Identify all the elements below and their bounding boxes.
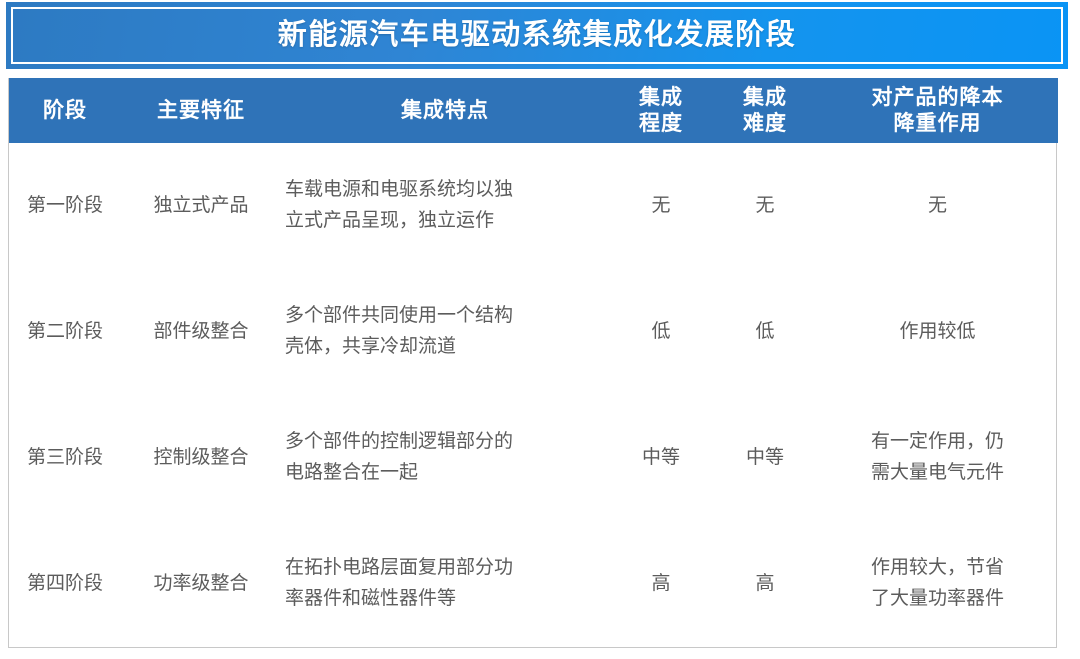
cell-difficulty: 无	[713, 143, 817, 269]
column-header-difficulty-line-1: 集成	[713, 85, 817, 110]
cell-integration: 多个部件的控制逻辑部分的 电路整合在一起	[281, 395, 609, 521]
cell-integration: 车载电源和电驱系统均以独 立式产品呈现，独立运作	[281, 143, 609, 269]
column-header-feature: 主要特征	[121, 78, 281, 143]
cell-effect-line-2: 需大量电气元件	[829, 458, 1046, 489]
slide-page: 新能源汽车电驱动系统集成化发展阶段 阶段 主要特征	[0, 0, 1080, 659]
cell-stage: 第三阶段	[9, 395, 121, 521]
cell-effect-line-1: 无	[829, 191, 1046, 222]
cell-integration-line-2: 电路整合在一起	[285, 458, 591, 489]
cell-stage: 第四阶段	[9, 521, 121, 647]
column-header-difficulty: 集成 难度	[713, 78, 817, 143]
cell-effect-line-1: 作用较大，节省	[829, 553, 1046, 584]
cell-feature: 独立式产品	[121, 143, 281, 269]
cell-difficulty: 中等	[713, 395, 817, 521]
cell-effect: 作用较大，节省 了大量功率器件	[817, 521, 1058, 647]
cell-effect: 有一定作用，仍 需大量电气元件	[817, 395, 1058, 521]
column-header-integration-line-1: 集成特点	[281, 98, 609, 123]
cell-level: 高	[609, 521, 713, 647]
cell-integration-line-2: 壳体，共享冷却流道	[285, 332, 591, 363]
column-header-level: 集成 程度	[609, 78, 713, 143]
cell-effect-line-1: 有一定作用，仍	[829, 427, 1046, 458]
column-header-effect-line-2: 降重作用	[817, 111, 1058, 136]
column-header-difficulty-line-2: 难度	[713, 111, 817, 136]
title-banner-inner-frame: 新能源汽车电驱动系统集成化发展阶段	[11, 7, 1063, 64]
page-title: 新能源汽车电驱动系统集成化发展阶段	[278, 21, 797, 50]
column-header-level-line-1: 集成	[609, 85, 713, 110]
column-header-integration: 集成特点	[281, 78, 609, 143]
column-header-level-line-2: 程度	[609, 111, 713, 136]
table-row: 第二阶段 部件级整合 多个部件共同使用一个结构 壳体，共享冷却流道 低 低 作用…	[9, 269, 1058, 395]
cell-feature: 控制级整合	[121, 395, 281, 521]
cell-level: 中等	[609, 395, 713, 521]
cell-integration: 多个部件共同使用一个结构 壳体，共享冷却流道	[281, 269, 609, 395]
column-header-feature-line-1: 主要特征	[121, 98, 281, 123]
column-header-effect-line-1: 对产品的降本	[817, 85, 1058, 110]
cell-integration-line-1: 在拓扑电路层面复用部分功	[285, 553, 591, 584]
cell-difficulty: 高	[713, 521, 817, 647]
column-header-stage-line-1: 阶段	[9, 98, 121, 123]
cell-feature: 功率级整合	[121, 521, 281, 647]
cell-integration-line-1: 多个部件共同使用一个结构	[285, 301, 591, 332]
table-container: 阶段 主要特征 集成特点 集成 程度 集成 难度	[8, 78, 1057, 648]
cell-effect: 作用较低	[817, 269, 1058, 395]
column-header-stage: 阶段	[9, 78, 121, 143]
table-row: 第四阶段 功率级整合 在拓扑电路层面复用部分功 率器件和磁性器件等 高 高 作用…	[9, 521, 1058, 647]
table-header-row: 阶段 主要特征 集成特点 集成 程度 集成 难度	[9, 78, 1058, 143]
cell-feature: 部件级整合	[121, 269, 281, 395]
cell-integration-line-1: 车载电源和电驱系统均以独	[285, 175, 591, 206]
cell-integration-line-2: 率器件和磁性器件等	[285, 584, 591, 615]
table-body: 第一阶段 独立式产品 车载电源和电驱系统均以独 立式产品呈现，独立运作 无 无 …	[9, 143, 1058, 647]
cell-level: 无	[609, 143, 713, 269]
column-header-effect: 对产品的降本 降重作用	[817, 78, 1058, 143]
title-banner: 新能源汽车电驱动系统集成化发展阶段	[6, 2, 1068, 69]
cell-difficulty: 低	[713, 269, 817, 395]
cell-effect-line-2: 了大量功率器件	[829, 584, 1046, 615]
development-stages-table: 阶段 主要特征 集成特点 集成 程度 集成 难度	[9, 78, 1058, 647]
cell-integration-line-2: 立式产品呈现，独立运作	[285, 206, 591, 237]
cell-stage: 第二阶段	[9, 269, 121, 395]
table-row: 第一阶段 独立式产品 车载电源和电驱系统均以独 立式产品呈现，独立运作 无 无 …	[9, 143, 1058, 269]
cell-integration-line-1: 多个部件的控制逻辑部分的	[285, 427, 591, 458]
cell-effect-line-1: 作用较低	[829, 317, 1046, 348]
cell-integration: 在拓扑电路层面复用部分功 率器件和磁性器件等	[281, 521, 609, 647]
table-row: 第三阶段 控制级整合 多个部件的控制逻辑部分的 电路整合在一起 中等 中等 有一…	[9, 395, 1058, 521]
cell-effect: 无	[817, 143, 1058, 269]
cell-level: 低	[609, 269, 713, 395]
cell-stage: 第一阶段	[9, 143, 121, 269]
table-header: 阶段 主要特征 集成特点 集成 程度 集成 难度	[9, 78, 1058, 143]
